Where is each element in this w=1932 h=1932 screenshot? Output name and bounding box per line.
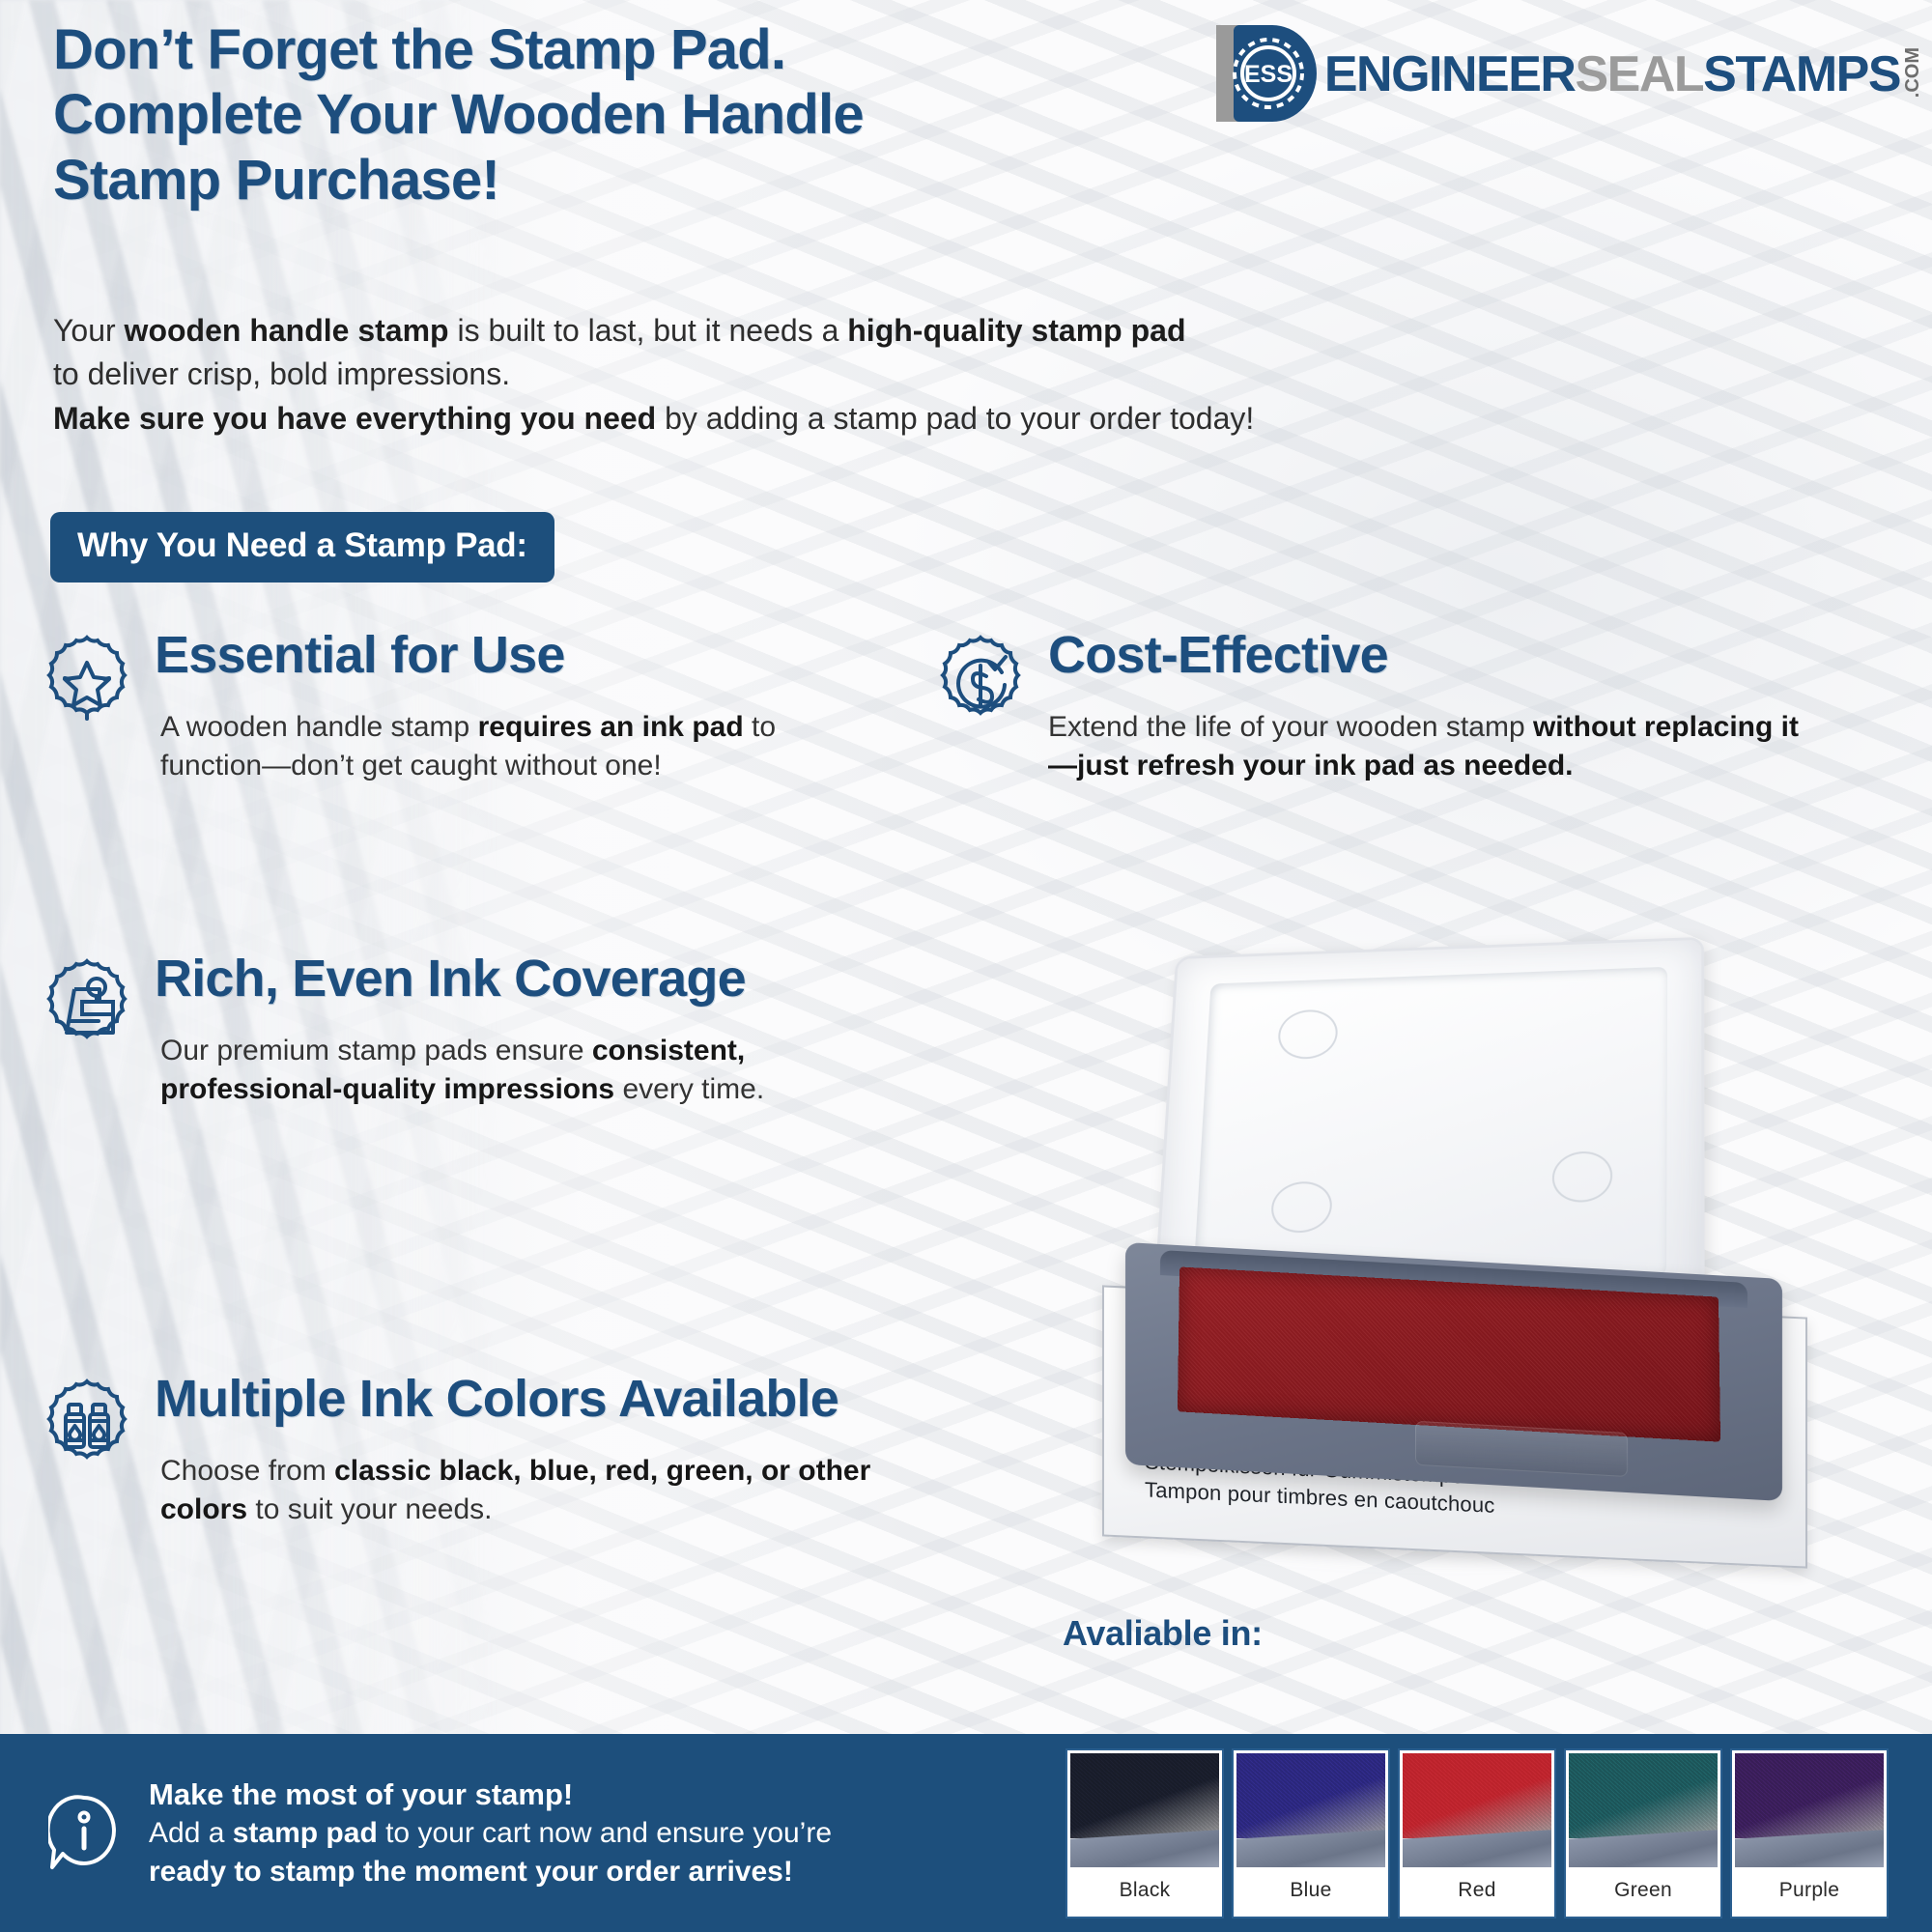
feature-text-bold: requires an ink pad bbox=[478, 711, 744, 743]
feature-multiple-ink-colors: Multiple Ink Colors Available Choose fro… bbox=[39, 1372, 1005, 1528]
color-swatch[interactable]: Blue bbox=[1234, 1750, 1388, 1917]
feature-text-a: Our premium stamp pads ensure bbox=[160, 1035, 592, 1066]
rubber-stamp-badge-icon bbox=[39, 957, 135, 1058]
feature-title: Rich, Even Ink Coverage bbox=[155, 952, 889, 1007]
intro-bold-high-quality-stamp-pad: high-quality stamp pad bbox=[847, 313, 1185, 348]
available-in-label: Avaliable in: bbox=[1063, 1613, 1263, 1654]
brand-logo[interactable]: ESS ENGINEER SEAL STAMPS .COM bbox=[1205, 19, 1922, 128]
swatch-color-preview bbox=[1735, 1753, 1884, 1867]
swatch-ink-surface bbox=[1735, 1753, 1884, 1838]
swatch-label: Red bbox=[1403, 1867, 1551, 1914]
color-swatch[interactable]: Purple bbox=[1732, 1750, 1887, 1917]
lid-dimple bbox=[1270, 1180, 1333, 1234]
swatch-label: Purple bbox=[1735, 1867, 1884, 1914]
ess-shield-gear-icon: ESS bbox=[1205, 19, 1319, 128]
brand-word-engineer: ENGINEER bbox=[1324, 49, 1576, 99]
feature-text-c: to suit your needs. bbox=[247, 1493, 492, 1525]
cta-line-2: Add a stamp pad to your cart now and ens… bbox=[149, 1814, 832, 1853]
intro-bold-make-sure: Make sure you have everything you need bbox=[53, 401, 656, 436]
cta-line-3: ready to stamp the moment your order arr… bbox=[149, 1853, 832, 1891]
intro-text-tail: by adding a stamp pad to your order toda… bbox=[656, 401, 1254, 436]
lid-dimple bbox=[1277, 1009, 1339, 1060]
swatch-color-preview bbox=[1236, 1753, 1385, 1867]
intro-paragraph: Your wooden handle stamp is built to las… bbox=[53, 309, 1695, 440]
why-you-need-banner: Why You Need a Stamp Pad: bbox=[50, 512, 554, 582]
dollar-check-badge-icon bbox=[932, 634, 1029, 734]
intro-line-2: to deliver crisp, bold impressions. bbox=[53, 353, 1695, 396]
swatch-label: Black bbox=[1070, 1867, 1219, 1914]
swatch-label: Green bbox=[1569, 1867, 1718, 1914]
headline-line-2: Complete Your Wooden Handle bbox=[53, 82, 1241, 147]
swatch-ink-surface bbox=[1070, 1753, 1219, 1838]
feature-description: Our premium stamp pads ensure consistent… bbox=[160, 1032, 798, 1109]
intro-line-1: Your wooden handle stamp is built to las… bbox=[53, 309, 1695, 353]
feature-cost-effective: Cost-Effective Extend the life of your w… bbox=[932, 628, 1898, 784]
feature-rich-even-ink-coverage: Rich, Even Ink Coverage Our premium stam… bbox=[39, 952, 889, 1108]
cta-text: Make the most of your stamp! Add a stamp… bbox=[149, 1775, 832, 1891]
cta-text-a: Add a bbox=[149, 1817, 233, 1849]
cta-block: Make the most of your stamp! Add a stamp… bbox=[48, 1775, 1034, 1891]
product-photo: S·C Stamp pad for rubber stamps Almohadi… bbox=[1058, 942, 1840, 1579]
brand-word-stamps: STAMPS bbox=[1703, 49, 1900, 99]
brand-tld: .COM bbox=[1903, 47, 1922, 98]
feature-body: Rich, Even Ink Coverage Our premium stam… bbox=[155, 952, 889, 1108]
feature-title: Multiple Ink Colors Available bbox=[155, 1372, 1005, 1427]
infographic-page: Don’t Forget the Stamp Pad. Complete You… bbox=[0, 0, 1932, 1932]
swatch-label: Blue bbox=[1236, 1867, 1385, 1914]
feature-description: Choose from classic black, blue, red, gr… bbox=[160, 1452, 914, 1529]
swatch-ink-surface bbox=[1403, 1753, 1551, 1838]
ess-monogram: ESS bbox=[1244, 61, 1293, 88]
lid-dimple bbox=[1551, 1151, 1612, 1204]
feature-essential-for-use: Essential for Use A wooden handle stamp … bbox=[39, 628, 937, 784]
stamp-pad-base bbox=[1125, 1242, 1782, 1501]
headline-line-3: Stamp Purchase! bbox=[53, 148, 1241, 213]
cta-line-1: Make the most of your stamp! bbox=[149, 1775, 832, 1814]
color-swatch-list: Black Blue Red Green bbox=[1067, 1750, 1887, 1917]
feature-text-a: Extend the life of your wooden stamp bbox=[1048, 711, 1533, 743]
brand-word-seal: SEAL bbox=[1575, 49, 1703, 99]
cta-bold-stamp-pad: stamp pad bbox=[233, 1817, 378, 1849]
feature-body: Cost-Effective Extend the life of your w… bbox=[1048, 628, 1898, 784]
feature-text-a: A wooden handle stamp bbox=[160, 711, 478, 743]
ink-bottles-badge-icon bbox=[39, 1378, 135, 1478]
feature-body: Multiple Ink Colors Available Choose fro… bbox=[155, 1372, 1005, 1528]
stamp-pad-ink-surface bbox=[1178, 1266, 1720, 1441]
brand-wordmark: ENGINEER SEAL STAMPS .COM bbox=[1324, 47, 1922, 99]
star-badge-icon bbox=[39, 634, 135, 734]
intro-bold-wooden-handle-stamp: wooden handle stamp bbox=[125, 313, 449, 348]
feature-title: Cost-Effective bbox=[1048, 628, 1898, 683]
swatch-ink-surface bbox=[1569, 1753, 1718, 1838]
feature-body: Essential for Use A wooden handle stamp … bbox=[155, 628, 937, 784]
color-swatch[interactable]: Red bbox=[1400, 1750, 1554, 1917]
feature-text-c: every time. bbox=[614, 1073, 764, 1105]
color-swatch[interactable]: Black bbox=[1067, 1750, 1222, 1917]
swatch-ink-surface bbox=[1236, 1753, 1385, 1838]
feature-description: A wooden handle stamp requires an ink pa… bbox=[160, 708, 856, 785]
color-swatch[interactable]: Green bbox=[1566, 1750, 1720, 1917]
swatch-color-preview bbox=[1403, 1753, 1551, 1867]
feature-description: Extend the life of your wooden stamp wit… bbox=[1048, 708, 1821, 785]
swatch-color-preview bbox=[1569, 1753, 1718, 1867]
intro-line-3: Make sure you have everything you need b… bbox=[53, 397, 1695, 440]
feature-text-a: Choose from bbox=[160, 1455, 334, 1487]
feature-title: Essential for Use bbox=[155, 628, 937, 683]
swatch-color-preview bbox=[1070, 1753, 1219, 1867]
headline-line-1: Don’t Forget the Stamp Pad. bbox=[53, 17, 1241, 82]
intro-text-a: Your bbox=[53, 313, 125, 348]
cta-text-c: to your cart now and ensure you’re bbox=[378, 1817, 832, 1849]
intro-text-c: is built to last, but it needs a bbox=[449, 313, 848, 348]
page-title: Don’t Forget the Stamp Pad. Complete You… bbox=[53, 17, 1241, 213]
info-bubble-icon bbox=[48, 1794, 120, 1873]
